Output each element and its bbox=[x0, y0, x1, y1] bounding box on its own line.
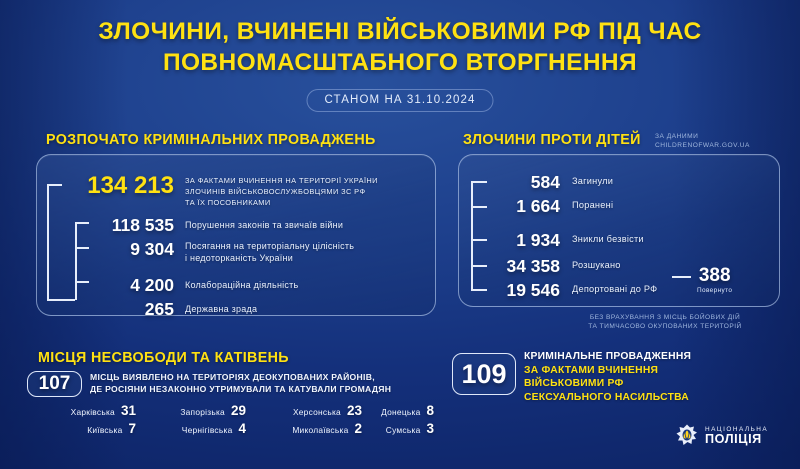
regions-breakdown: Харківська 31 Запорізька 29 Херсонська 2… bbox=[24, 403, 434, 436]
regions-row: Харківська 31 Запорізька 29 Херсонська 2… bbox=[24, 403, 434, 418]
detention-count-badge: 107 bbox=[27, 371, 82, 397]
sexual-violence-count-badge: 109 bbox=[452, 353, 516, 395]
region-value: 7 bbox=[128, 421, 136, 436]
children-item-row: 1 664 Поранені bbox=[470, 196, 780, 217]
region-item: Харківська 31 bbox=[24, 403, 136, 418]
region-item: Донецька 8 bbox=[362, 403, 434, 418]
children-item-row: 34 358 Розшукано bbox=[470, 256, 780, 277]
proceedings-item-label: Порушення законів та звичаїв війни bbox=[185, 219, 343, 231]
detention-sites-heading: МІСЦЯ НЕСВОБОДИ ТА КАТІВЕНЬ bbox=[38, 350, 289, 366]
region-value: 4 bbox=[238, 421, 246, 436]
sexual-violence-line4: СЕКСУАЛЬНОГО НАСИЛЬСТВА bbox=[524, 391, 774, 405]
proceedings-item-row: 4 200 Колабораційна діяльність bbox=[62, 275, 422, 296]
sexual-violence-description: КРИМІНАЛЬНЕ ПРОВАДЖЕННЯ ЗА ФАКТАМИ ВЧИНЕ… bbox=[524, 350, 774, 404]
region-value: 31 bbox=[121, 403, 136, 418]
page-title: ЗЛОЧИНИ, ВЧИНЕНІ ВІЙСЬКОВИМИ РФ ПІД ЧАС … bbox=[0, 17, 800, 79]
children-crimes-note: БЕЗ ВРАХУВАННЯ З МІСЦЬ БОЙОВИХ ДІЙ ТА ТИ… bbox=[540, 313, 790, 332]
region-item: Чернігівська 4 bbox=[136, 421, 246, 436]
returned-label: Повернуто bbox=[697, 287, 732, 294]
children-item-value: 1 664 bbox=[470, 196, 560, 217]
detention-description: МІСЦЬ ВИЯВЛЕНО НА ТЕРИТОРІЯХ ДЕОКУПОВАНИ… bbox=[90, 371, 440, 396]
proceedings-item-value: 118 535 bbox=[62, 215, 174, 236]
children-item-row: 19 546 Депортовані до РФ bbox=[470, 280, 780, 301]
logo-line2: ПОЛІЦІЯ bbox=[705, 433, 768, 447]
returned-value: 388 bbox=[697, 266, 732, 285]
region-name: Чернігівська bbox=[182, 425, 233, 435]
region-item: Запорізька 29 bbox=[136, 403, 246, 418]
sexual-violence-line2: ЗА ФАКТАМИ ВЧИНЕННЯ bbox=[524, 364, 774, 378]
region-name: Запорізька bbox=[180, 407, 225, 417]
logo-text: НАЦІОНАЛЬНА ПОЛІЦІЯ bbox=[705, 426, 768, 447]
children-item-value: 1 934 bbox=[470, 230, 560, 251]
proceedings-total-label: ЗА ФАКТАМИ ВЧИНЕННЯ НА ТЕРИТОРІЇ УКРАЇНИ… bbox=[185, 176, 378, 208]
proceedings-item-value: 265 bbox=[62, 299, 174, 320]
children-item-value: 19 546 bbox=[470, 280, 560, 301]
bracket-outer-vertical bbox=[47, 184, 49, 300]
region-item: Херсонська 23 bbox=[246, 403, 362, 418]
region-value: 8 bbox=[426, 403, 434, 418]
bracket-outer-tick-total bbox=[47, 184, 62, 186]
region-item: Миколаївська 2 bbox=[246, 421, 362, 436]
region-item: Київська 7 bbox=[24, 421, 136, 436]
region-value: 2 bbox=[354, 421, 362, 436]
region-value: 23 bbox=[347, 403, 362, 418]
proceedings-item-row: 265 Державна зрада bbox=[62, 299, 422, 320]
children-item-row: 1 934 Зникли безвісти bbox=[470, 230, 780, 251]
children-item-label: Загинули bbox=[572, 176, 613, 186]
region-item: Сумська 3 bbox=[362, 421, 434, 436]
children-item-label: Депортовані до РФ bbox=[572, 284, 657, 294]
date-badge: СТАНОМ НА 31.10.2024 bbox=[307, 89, 494, 112]
children-item-label: Зникли безвісти bbox=[572, 234, 644, 244]
region-name: Київська bbox=[87, 425, 122, 435]
proceedings-item-label: Колабораційна діяльність bbox=[185, 279, 298, 291]
region-name: Сумська bbox=[386, 425, 421, 435]
children-item-label: Поранені bbox=[572, 200, 613, 210]
police-emblem-icon bbox=[676, 424, 698, 448]
region-name: Херсонська bbox=[293, 407, 341, 417]
criminal-proceedings-heading: РОЗПОЧАТО КРИМІНАЛЬНИХ ПРОВАДЖЕНЬ bbox=[46, 132, 376, 148]
children-item-row: 584 Загинули bbox=[470, 172, 780, 193]
sexual-violence-line1: КРИМІНАЛЬНЕ ПРОВАДЖЕННЯ bbox=[524, 350, 774, 364]
proceedings-item-value: 4 200 bbox=[62, 275, 174, 296]
region-name: Харківська bbox=[71, 407, 115, 417]
children-item-value: 584 bbox=[470, 172, 560, 193]
children-item-label: Розшукано bbox=[572, 260, 621, 270]
national-police-logo: НАЦІОНАЛЬНА ПОЛІЦІЯ bbox=[676, 424, 768, 448]
children-crimes-source: ЗА ДАНИМИ CHILDRENOFWAR.GOV.UA bbox=[655, 133, 750, 150]
region-name: Миколаївська bbox=[292, 425, 348, 435]
returned-group: 388 Повернуто bbox=[697, 266, 732, 294]
children-item-value: 34 358 bbox=[470, 256, 560, 277]
proceedings-item-value: 9 304 bbox=[62, 239, 174, 260]
proceedings-item-label: Посягання на територіальну цілісність і … bbox=[185, 240, 354, 264]
region-value: 3 bbox=[426, 421, 434, 436]
returned-connector-line bbox=[672, 276, 691, 278]
sexual-violence-line3: ВІЙСЬКОВИМИ РФ bbox=[524, 377, 774, 391]
proceedings-total-value: 134 213 bbox=[62, 172, 174, 200]
proceedings-item-row: 118 535 Порушення законів та звичаїв вій… bbox=[62, 215, 422, 236]
region-name: Донецька bbox=[381, 407, 420, 417]
proceedings-item-label: Державна зрада bbox=[185, 303, 257, 315]
children-crimes-heading: ЗЛОЧИНИ ПРОТИ ДІТЕЙ bbox=[463, 132, 641, 148]
proceedings-item-row: 9 304 Посягання на територіальну цілісні… bbox=[62, 239, 422, 264]
region-value: 29 bbox=[231, 403, 246, 418]
proceedings-total-row: 134 213 ЗА ФАКТАМИ ВЧИНЕННЯ НА ТЕРИТОРІЇ… bbox=[62, 172, 422, 208]
regions-row: Київська 7 Чернігівська 4 Миколаївська 2… bbox=[24, 421, 434, 436]
